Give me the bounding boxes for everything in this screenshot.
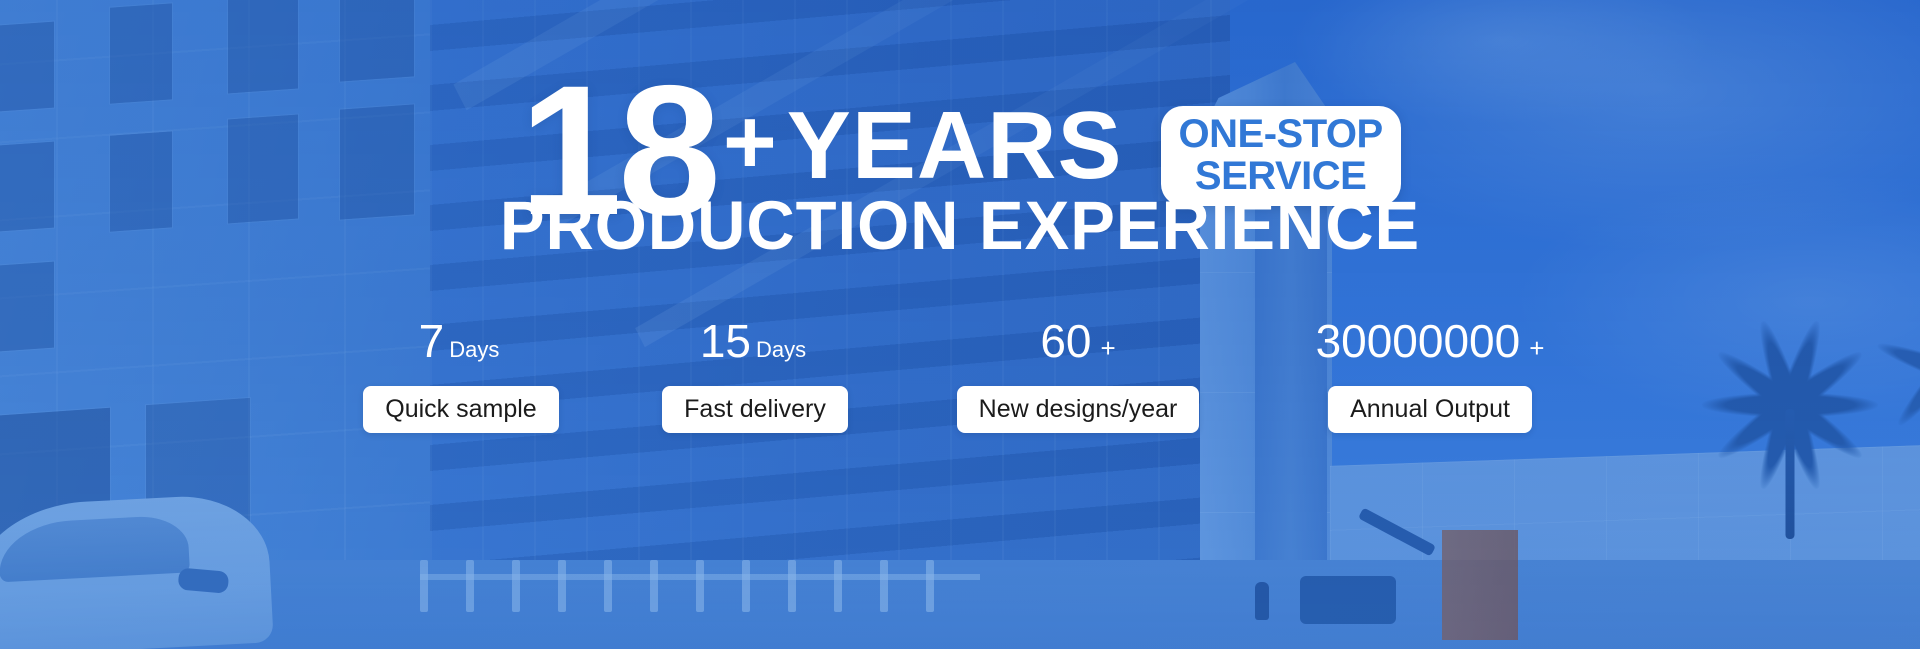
stat-value-row: 30000000 + — [1316, 318, 1545, 372]
stat-value-row: 7 Days — [419, 318, 504, 372]
stat-label-pill: Quick sample — [363, 386, 558, 433]
stat-value-row: 60 + — [1040, 318, 1115, 372]
stat-item-fast-delivery: 15 Days Fast delivery — [639, 318, 871, 433]
stat-label-pill: Fast delivery — [662, 386, 848, 433]
stat-label-pill: New designs/year — [957, 386, 1200, 433]
stat-label-pill: Annual Output — [1328, 386, 1532, 433]
stat-value: 60 — [1040, 318, 1091, 364]
stat-unit: Days — [756, 339, 806, 361]
stat-unit: Days — [449, 339, 499, 361]
stat-plus: + — [1529, 335, 1544, 361]
stat-item-quick-sample: 7 Days Quick sample — [345, 318, 577, 433]
banner-content: 18 + YEARS ONE-STOP SERVICE PRODUCTION E… — [0, 0, 1920, 649]
stats-row: 7 Days Quick sample 15 Days Fast deliver… — [0, 318, 1920, 433]
years-plus-sign: + — [723, 96, 777, 188]
stat-value: 30000000 — [1316, 318, 1521, 364]
subheadline: PRODUCTION EXPERIENCE — [29, 186, 1891, 265]
stat-plus: + — [1100, 335, 1115, 361]
company-hero-banner: 18 + YEARS ONE-STOP SERVICE PRODUCTION E… — [0, 0, 1920, 649]
stat-item-new-designs: 60 + New designs/year — [933, 318, 1223, 433]
badge-line-one: ONE-STOP — [1179, 114, 1383, 154]
stat-value: 15 — [700, 318, 751, 364]
stat-value-row: 15 Days — [700, 318, 810, 372]
stat-value: 7 — [419, 318, 445, 364]
stat-item-annual-output: 30000000 + Annual Output — [1285, 318, 1575, 433]
years-word: YEARS — [787, 98, 1123, 194]
